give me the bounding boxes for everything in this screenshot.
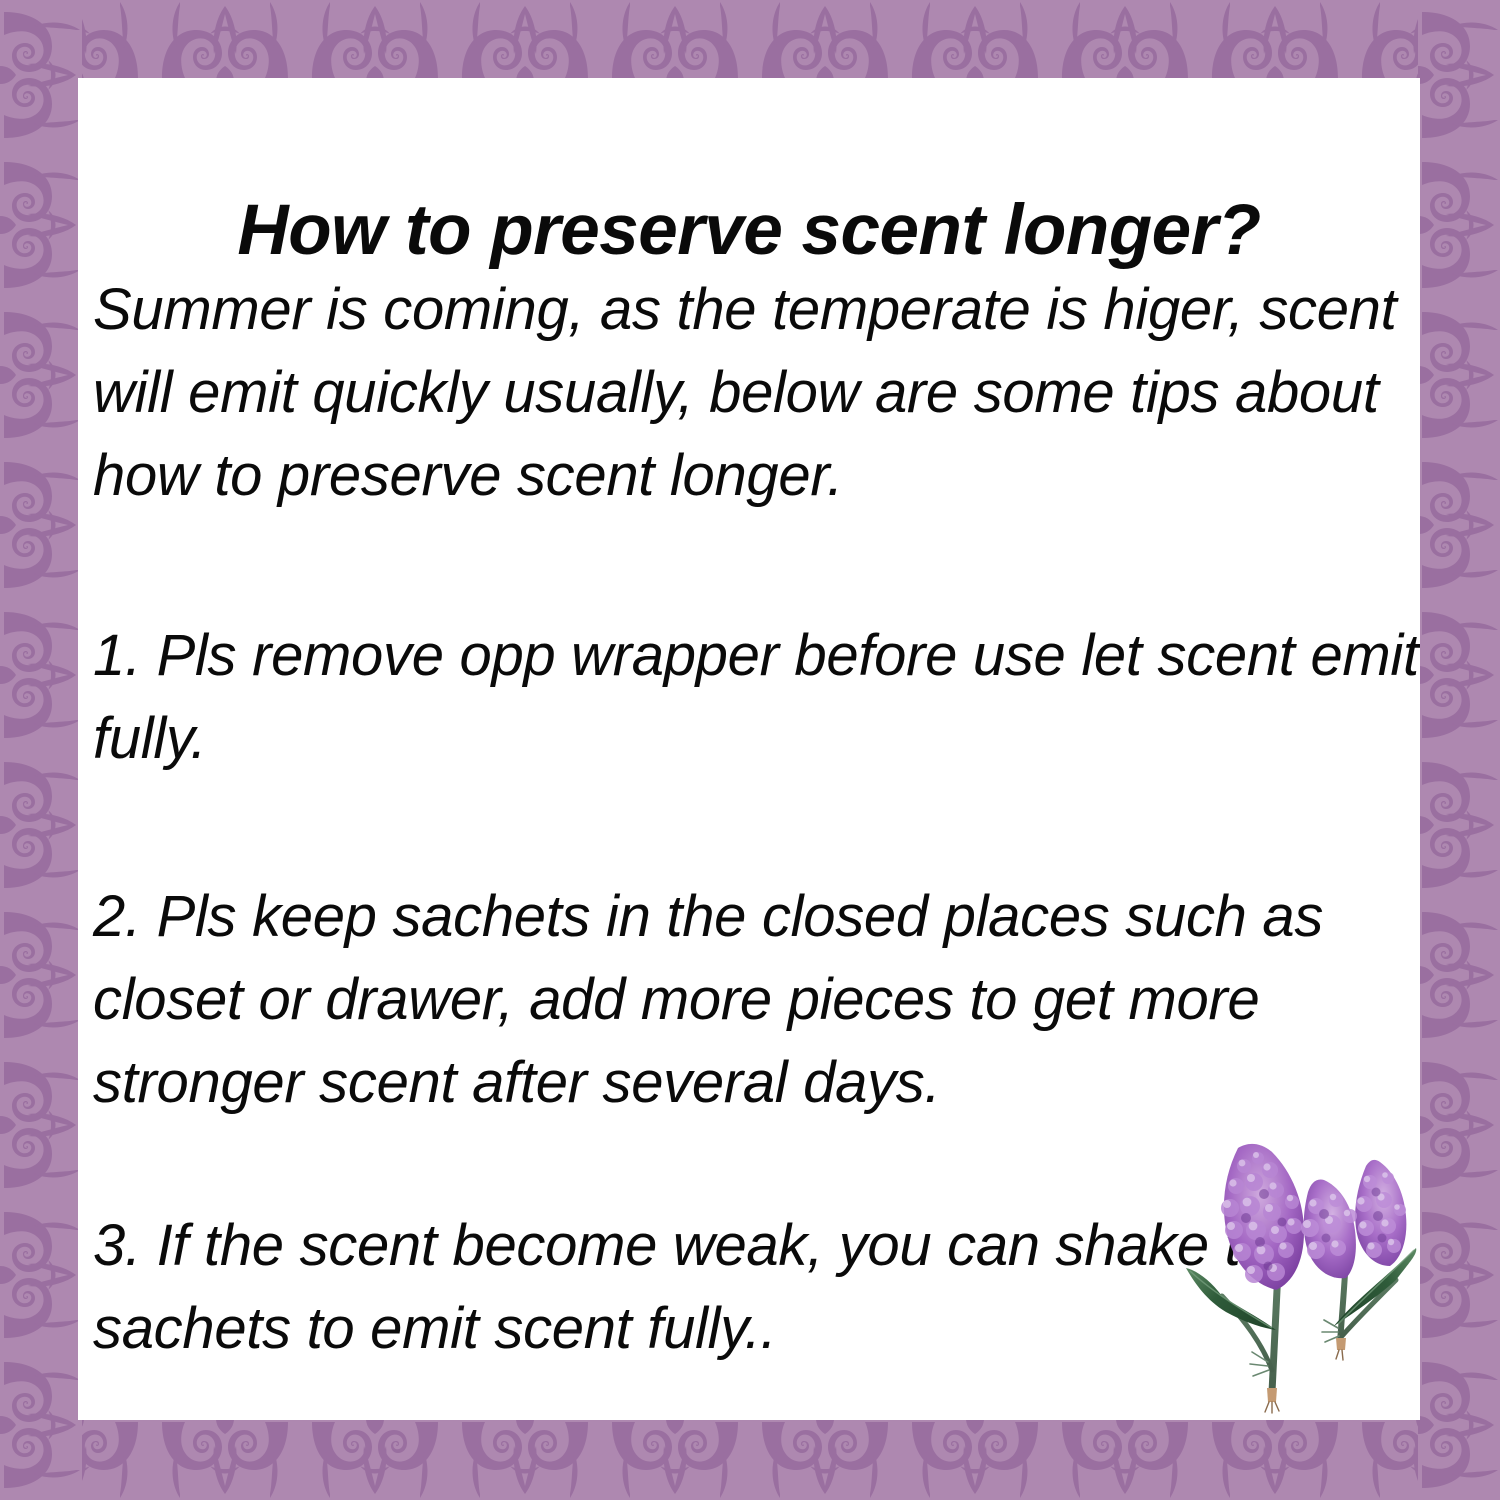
intro-paragraph: Summer is coming, as the temperate is hi… bbox=[93, 268, 1420, 517]
border-band-top bbox=[0, 0, 1500, 82]
tip-item-3: 3. If the scent become weak, you can sha… bbox=[93, 1204, 1420, 1370]
border-band-right bbox=[1418, 0, 1500, 1500]
poster-root: How to preserve scent longer? Summer is … bbox=[0, 0, 1500, 1500]
tip-item-1: 1. Pls remove opp wrapper before use let… bbox=[93, 614, 1420, 780]
page-title: How to preserve scent longer? bbox=[78, 190, 1420, 271]
body-text: Summer is coming, as the temperate is hi… bbox=[93, 268, 1420, 1370]
border-band-left bbox=[0, 0, 82, 1500]
border-band-bottom bbox=[0, 1418, 1500, 1500]
tip-item-2: 2. Pls keep sachets in the closed places… bbox=[93, 875, 1420, 1124]
content-card: How to preserve scent longer? Summer is … bbox=[78, 78, 1420, 1420]
